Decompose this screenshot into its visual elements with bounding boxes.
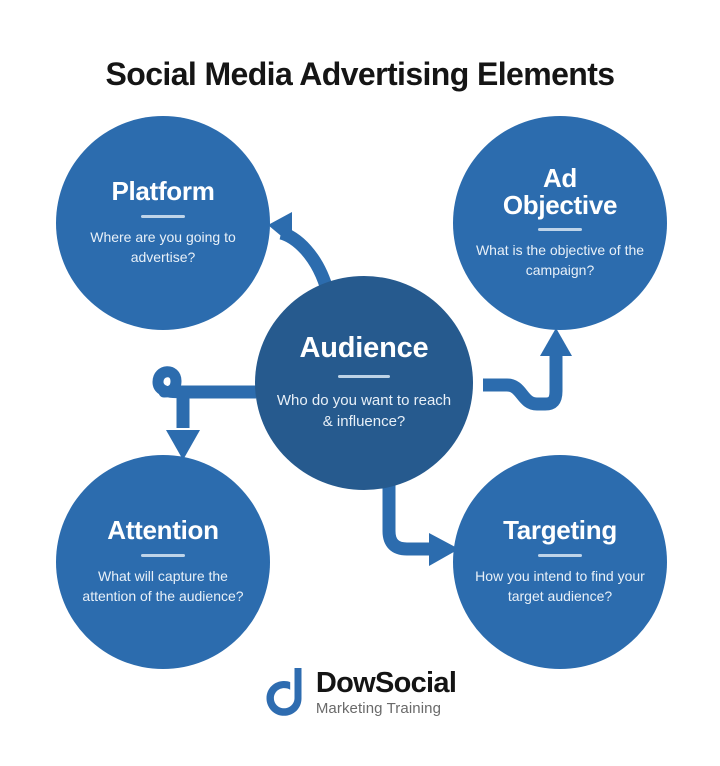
node-attention[interactable]: Attention What will capture the attentio… [56,455,270,669]
node-ad-objective-divider [538,228,582,231]
node-attention-description: What will capture the attention of the a… [78,567,248,607]
connector-audience-to-ad-objective [483,328,572,404]
connector-audience-to-targeting [389,470,459,566]
node-attention-title: Attention [107,517,218,544]
connector-audience-to-platform [268,212,328,293]
infographic-canvas: Social Media Advertising Elements Platfo… [0,0,720,766]
node-audience[interactable]: Audience Who do you want to reach & infl… [255,276,473,490]
node-attention-divider [141,554,185,557]
node-targeting-divider [538,554,582,557]
connector-audience-to-attention [158,372,256,460]
node-platform-divider [141,215,185,218]
node-ad-objective-title-line1: Ad [503,165,617,192]
node-ad-objective-title: Ad Objective [503,165,617,219]
logo-tagline: Marketing Training [316,701,456,716]
node-audience-divider [338,375,390,378]
node-targeting[interactable]: Targeting How you intend to find your ta… [453,455,667,669]
logo-name: DowSocial [316,669,456,698]
node-ad-objective[interactable]: Ad Objective What is the objective of th… [453,116,667,330]
brand-logo: DowSocial Marketing Training [0,666,720,718]
node-platform-title: Platform [111,178,214,205]
node-ad-objective-title-line2: Objective [503,192,617,219]
node-audience-description: Who do you want to reach & influence? [274,390,454,433]
logo-text-block: DowSocial Marketing Training [316,669,456,716]
node-ad-objective-description: What is the objective of the campaign? [475,241,645,281]
node-targeting-title: Targeting [503,517,617,544]
node-targeting-description: How you intend to find your target audie… [475,567,645,607]
node-audience-title: Audience [300,334,429,364]
node-platform[interactable]: Platform Where are you going to advertis… [56,116,270,330]
node-platform-description: Where are you going to advertise? [78,228,248,268]
dowsocial-d-mark-icon [264,666,306,718]
